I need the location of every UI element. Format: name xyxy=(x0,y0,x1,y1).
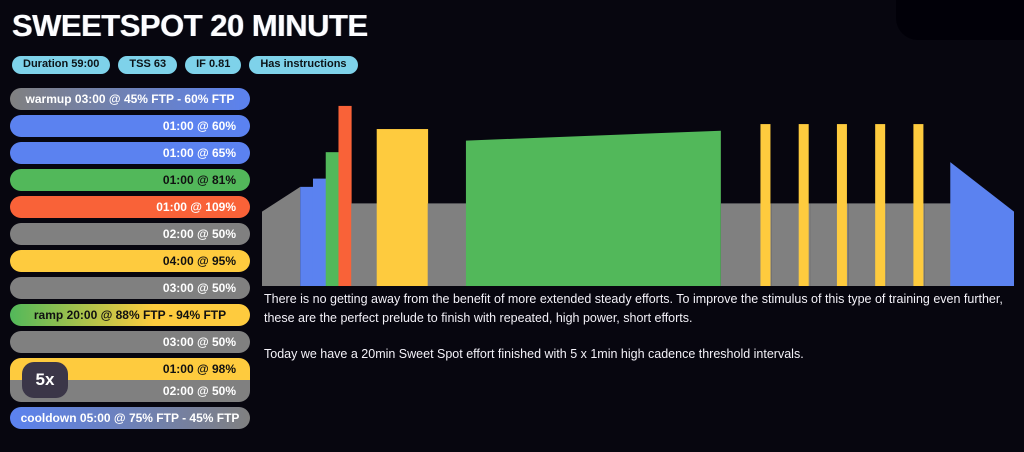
interval-row[interactable]: cooldown 05:00 @ 75% FTP - 45% FTP xyxy=(10,407,250,429)
description-paragraph: There is no getting away from the benefi… xyxy=(264,290,1016,329)
interval-label: 01:00 @ 109% xyxy=(156,200,236,214)
interval-row[interactable]: ramp 20:00 @ 88% FTP - 94% FTP xyxy=(10,304,250,326)
interval-label: warmup 03:00 @ 45% FTP - 60% FTP xyxy=(26,92,235,106)
workout-description: There is no getting away from the benefi… xyxy=(264,290,1016,364)
chart-segment-steady xyxy=(326,152,339,286)
workout-profile-svg xyxy=(262,96,1014,286)
stat-badge: Has instructions xyxy=(249,56,357,74)
interval-label: 02:00 @ 50% xyxy=(163,384,236,398)
chart-segment-warmup xyxy=(262,187,300,286)
interval-row[interactable]: 01:00 @ 81% xyxy=(10,169,250,191)
chart-segment-recovery xyxy=(772,203,798,286)
interval-label: 04:00 @ 95% xyxy=(163,254,236,268)
page-title: SWEETSPOT 20 MINUTE xyxy=(12,8,368,44)
interval-label: 01:00 @ 98% xyxy=(163,362,236,376)
chart-segment-steady xyxy=(338,106,351,286)
workout-page: SWEETSPOT 20 MINUTE Duration 59:00TSS 63… xyxy=(0,0,1024,452)
corner-plate xyxy=(896,0,1024,40)
workout-profile-chart xyxy=(262,96,1014,286)
chart-segment-recovery xyxy=(351,203,377,286)
chart-segment-recovery xyxy=(848,203,874,286)
chart-segment-cooldown xyxy=(950,162,1014,286)
workout-stats-badges: Duration 59:00TSS 63IF 0.81Has instructi… xyxy=(12,56,358,74)
interval-row[interactable]: 03:00 @ 50% xyxy=(10,277,250,299)
chart-segment-interval-1 xyxy=(760,124,770,286)
interval-list: warmup 03:00 @ 45% FTP - 60% FTP01:00 @ … xyxy=(10,88,250,434)
chart-segment-recovery xyxy=(428,203,467,286)
interval-row[interactable]: 01:00 @ 65% xyxy=(10,142,250,164)
interval-label: cooldown 05:00 @ 75% FTP - 45% FTP xyxy=(21,411,240,425)
description-paragraph: Today we have a 20min Sweet Spot effort … xyxy=(264,345,1016,364)
chart-segment-interval-4 xyxy=(875,124,885,286)
chart-segment-interval-5 xyxy=(913,124,923,286)
interval-label: 03:00 @ 50% xyxy=(163,335,236,349)
chart-segment-recovery xyxy=(721,203,760,286)
stat-badge: Duration 59:00 xyxy=(12,56,110,74)
interval-row[interactable]: 01:00 @ 98%5x xyxy=(10,358,250,380)
chart-segment-interval-2 xyxy=(799,124,809,286)
interval-row[interactable]: warmup 03:00 @ 45% FTP - 60% FTP xyxy=(10,88,250,110)
interval-label: 03:00 @ 50% xyxy=(163,281,236,295)
interval-label: ramp 20:00 @ 88% FTP - 94% FTP xyxy=(34,308,226,322)
chart-segment-steady xyxy=(313,179,326,286)
interval-row[interactable]: 02:00 @ 50% xyxy=(10,223,250,245)
repeat-count-badge: 5x xyxy=(22,362,68,398)
interval-label: 02:00 @ 50% xyxy=(163,227,236,241)
interval-row[interactable]: 01:00 @ 109% xyxy=(10,196,250,218)
interval-row[interactable]: 01:00 @ 60% xyxy=(10,115,250,137)
interval-label: 01:00 @ 81% xyxy=(163,173,236,187)
chart-segment-steady xyxy=(377,129,428,286)
chart-segment-interval-3 xyxy=(837,124,847,286)
interval-label: 01:00 @ 65% xyxy=(163,146,236,160)
chart-segment-recovery xyxy=(887,203,913,286)
interval-row[interactable]: 04:00 @ 95% xyxy=(10,250,250,272)
chart-segment-recovery xyxy=(810,203,836,286)
stat-badge: TSS 63 xyxy=(118,56,177,74)
chart-segment-recovery xyxy=(925,203,951,286)
stat-badge: IF 0.81 xyxy=(185,56,241,74)
chart-segment-ramp xyxy=(466,131,721,286)
interval-label: 01:00 @ 60% xyxy=(163,119,236,133)
interval-row[interactable]: 03:00 @ 50% xyxy=(10,331,250,353)
chart-segment-steady xyxy=(300,187,313,286)
